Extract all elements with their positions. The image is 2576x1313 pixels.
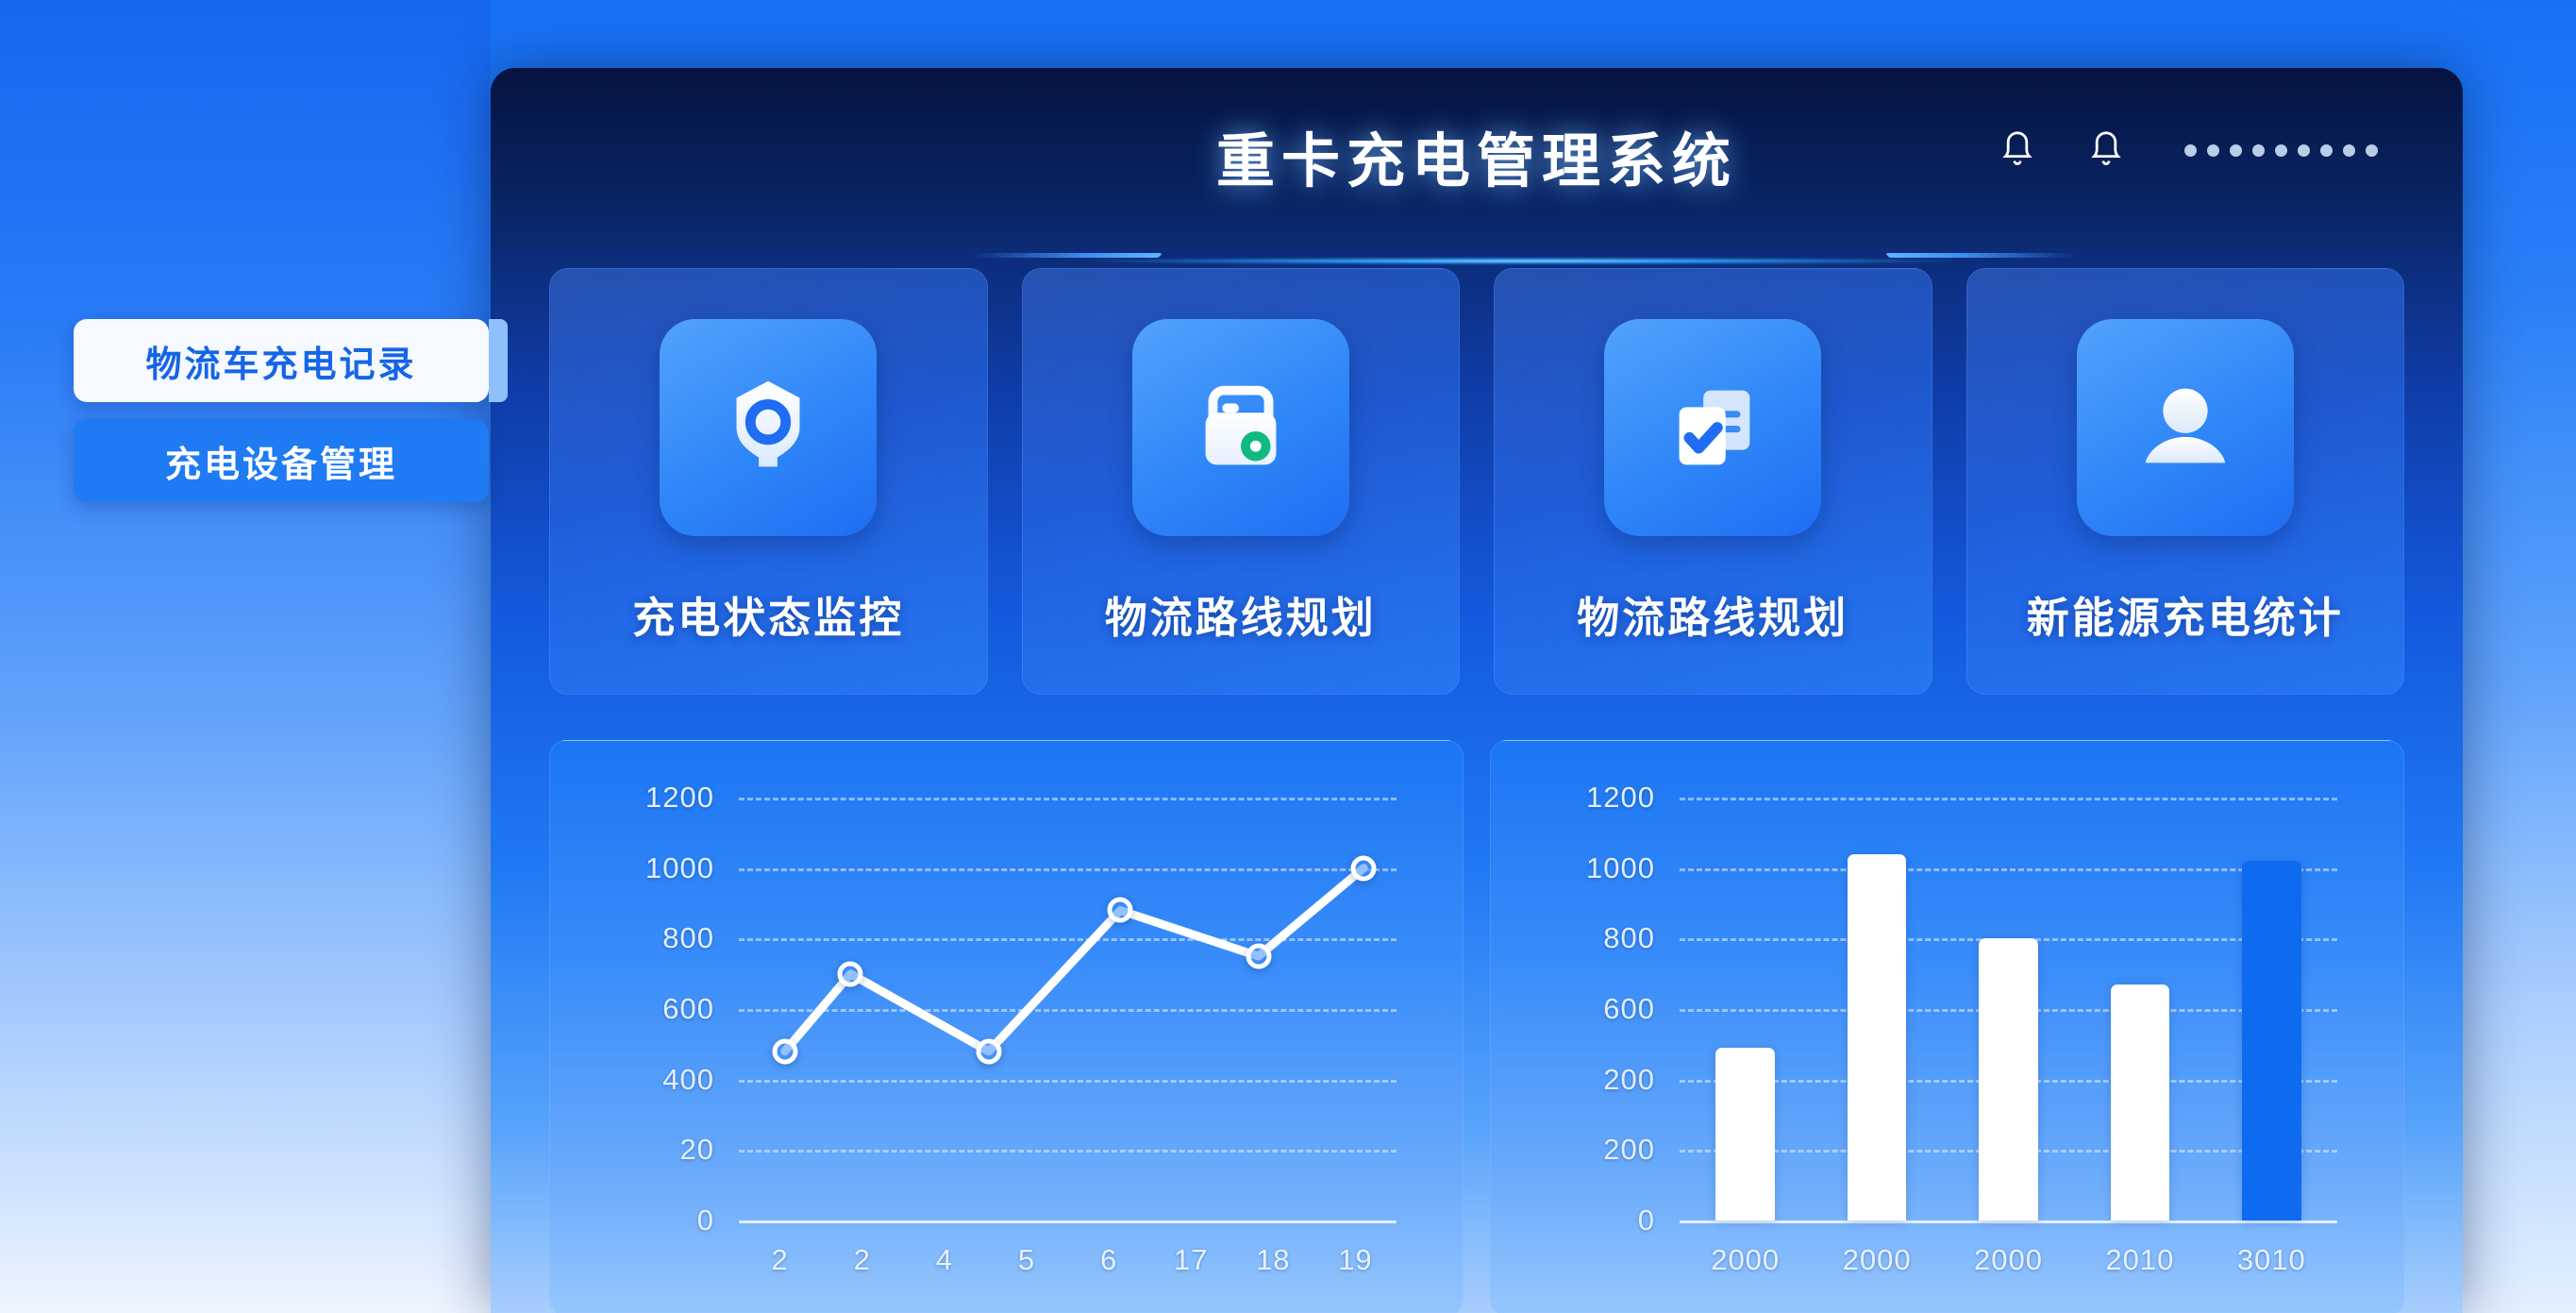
feature-card-label: 物流路线规划: [1105, 583, 1377, 645]
bell-outline-icon[interactable]: [2086, 128, 2126, 172]
y-axis-tick-label: 800: [1603, 921, 1655, 955]
dot: [2207, 144, 2219, 157]
bar[interactable]: [2242, 861, 2301, 1220]
line-series-path: [550, 741, 1463, 1313]
dot: [2252, 144, 2265, 157]
line-chart-panel[interactable]: 1200100080060040020022456171819: [549, 740, 1464, 1313]
dot: [2343, 144, 2355, 157]
dot: [2320, 144, 2333, 157]
x-axis-line: [1680, 1220, 2337, 1223]
document-check-icon: [1604, 319, 1821, 536]
data-point-marker[interactable]: [1246, 944, 1271, 969]
feature-card-logistics-route-planning-1[interactable]: 物流路线规划: [1022, 268, 1461, 695]
dashboard-panel: 重卡充电管理系统: [491, 68, 2463, 1313]
more-options-dots-icon[interactable]: [2184, 144, 2378, 157]
chart-row: 1200100080060040020022456171819 12001000…: [549, 740, 2404, 1313]
data-point-marker[interactable]: [772, 1038, 797, 1064]
x-axis-tick-label: 2000: [1843, 1243, 1912, 1277]
briefcase-bag-icon: [1132, 319, 1349, 536]
data-point-marker[interactable]: [838, 961, 863, 986]
feature-card-charging-status-monitor[interactable]: 充电状态监控: [549, 268, 988, 695]
left-background-strip: [0, 0, 491, 1313]
sidebar-item-logistics-charging-records[interactable]: 物流车充电记录: [74, 319, 489, 402]
y-axis-tick-label: 600: [1603, 992, 1655, 1026]
dot: [2230, 144, 2242, 157]
feature-card-label: 充电状态监控: [632, 583, 904, 645]
feature-card-logistics-route-planning-2[interactable]: 物流路线规划: [1494, 268, 1932, 695]
dot: [2366, 144, 2378, 157]
feature-card-label: 新能源充电统计: [2027, 583, 2344, 645]
bar[interactable]: [1979, 938, 2038, 1220]
bar[interactable]: [2111, 985, 2170, 1220]
sidebar-item-label: 物流车充电记录: [145, 335, 416, 387]
data-point-marker[interactable]: [976, 1038, 1001, 1064]
y-axis-tick-label: 200: [1603, 1063, 1655, 1097]
sidebar-active-edge: [489, 319, 508, 402]
dot: [2184, 144, 2197, 157]
bar[interactable]: [1848, 854, 1907, 1220]
bar-chart-plot: 1200100080060020020002000200020002010301…: [1491, 741, 2403, 1313]
sidebar: 物流车充电记录 充电设备管理: [74, 319, 489, 502]
data-point-marker[interactable]: [1351, 855, 1377, 881]
bell-outline-icon[interactable]: [1998, 128, 2037, 172]
dot: [2275, 144, 2287, 157]
y-axis-tick-label: 0: [1638, 1204, 1655, 1237]
sidebar-item-charging-device-management[interactable]: 充电设备管理: [74, 419, 489, 502]
feature-card-label: 物流路线规划: [1577, 583, 1848, 645]
data-point-marker[interactable]: [1108, 898, 1133, 923]
line-chart-plot: 1200100080060040020022456171819: [550, 741, 1463, 1313]
x-axis-tick-label: 3010: [2237, 1243, 2306, 1277]
x-axis-tick-label: 2000: [1711, 1243, 1780, 1277]
dot: [2298, 144, 2310, 157]
bar[interactable]: [1715, 1048, 1775, 1220]
x-axis-tick-label: 2010: [2105, 1243, 2174, 1277]
gridline: [1680, 798, 2337, 800]
y-axis-tick-label: 200: [1603, 1133, 1655, 1167]
feature-card-new-energy-charging-stats[interactable]: 新能源充电统计: [1966, 268, 2405, 695]
charging-gun-shield-icon: [660, 319, 877, 536]
gridline: [1680, 868, 2337, 871]
header-tools: [1998, 128, 2378, 172]
sidebar-item-label: 充电设备管理: [165, 435, 397, 487]
bar-chart-panel[interactable]: 1200100080060020020002000200020002010301…: [1490, 740, 2404, 1313]
feature-card-grid: 充电状态监控 物流路线规划: [549, 268, 2404, 695]
user-person-icon: [2077, 319, 2294, 536]
dashboard-header: 重卡充电管理系统: [491, 68, 2463, 247]
header-glow-line: [1095, 258, 1953, 264]
y-axis-tick-label: 1200: [1586, 781, 1655, 815]
y-axis-tick-label: 1000: [1586, 851, 1655, 885]
x-axis-tick-label: 2000: [1974, 1243, 2043, 1277]
